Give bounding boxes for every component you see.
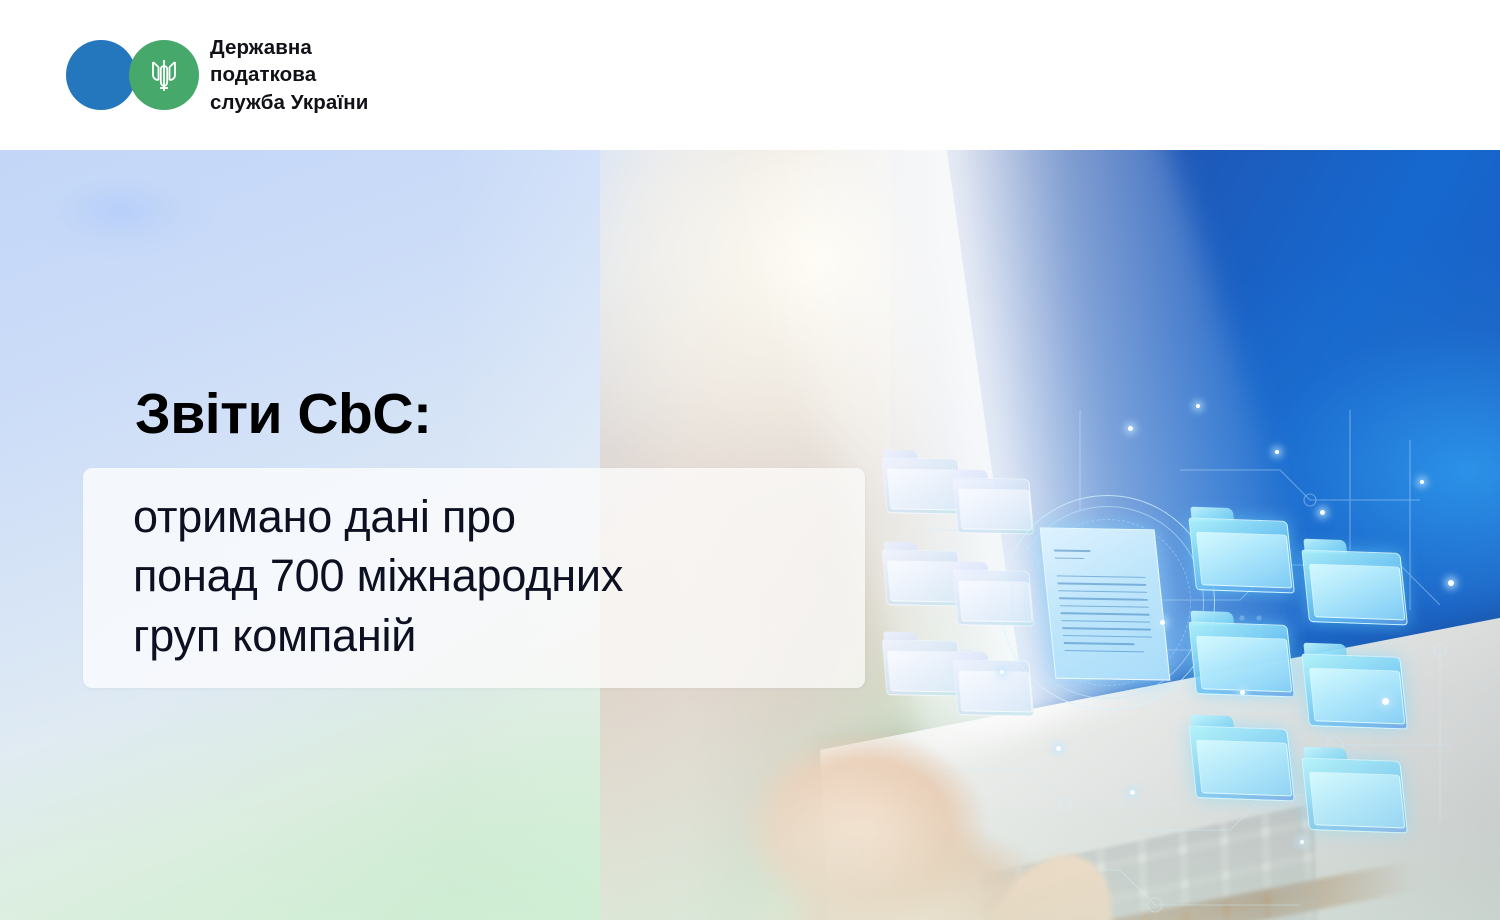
logo-green-circle-icon xyxy=(129,40,199,110)
folder-icon xyxy=(1300,539,1405,624)
document-page-icon xyxy=(1040,527,1171,680)
glow-spark xyxy=(1420,480,1424,484)
folder-icon xyxy=(1187,611,1292,696)
site-header: Державна податкова служба України xyxy=(0,0,1500,150)
photo-bottom-blend xyxy=(0,690,1500,920)
glow-spark xyxy=(1196,404,1200,408)
glow-spark xyxy=(1320,510,1325,515)
glow-spark xyxy=(1128,426,1133,431)
glow-spark xyxy=(1160,620,1165,625)
organization-logo[interactable]: Державна податкова служба України xyxy=(66,34,368,115)
glow-spark xyxy=(1448,580,1454,586)
logo-blue-circle-icon xyxy=(66,40,136,110)
page-subtitle: отримано дані про понад 700 міжнародних … xyxy=(133,487,623,665)
poster-canvas: Державна податкова служба України xyxy=(0,0,1500,920)
logo-mark xyxy=(66,40,198,110)
glow-spark xyxy=(1000,670,1004,674)
folder-icon xyxy=(1187,507,1292,592)
glow-spark xyxy=(1275,450,1279,454)
page-title: Звіти CbC: xyxy=(135,385,432,445)
organization-name: Державна податкова служба України xyxy=(210,34,368,115)
ukraine-trident-icon xyxy=(147,55,181,95)
